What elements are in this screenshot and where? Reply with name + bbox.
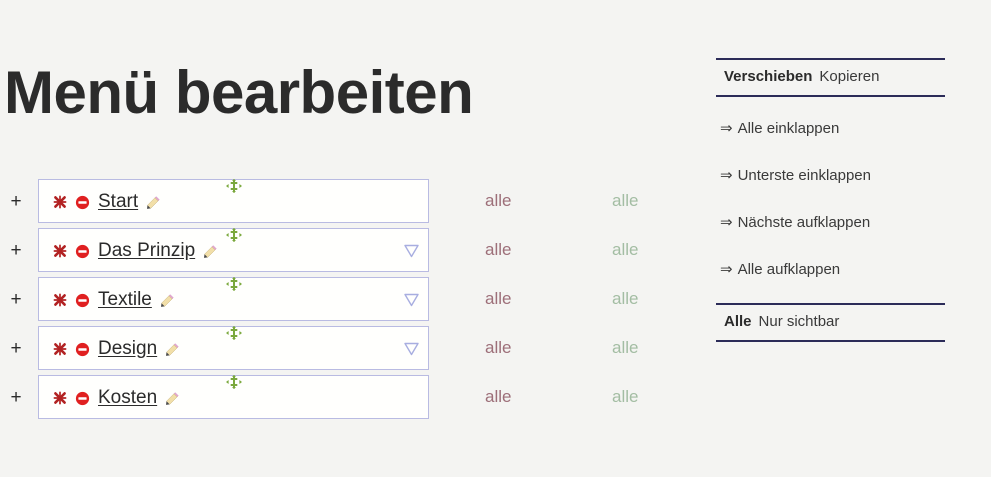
menu-item-box[interactable]: Das Prinzip <box>38 228 429 272</box>
add-child-button[interactable]: + <box>8 191 24 213</box>
disable-minus-icon[interactable] <box>75 391 90 406</box>
double-arrow-right-icon: ⇒ <box>720 167 733 184</box>
filter-group-inner: AlleNur sichtbar <box>716 312 945 332</box>
pencil-icon[interactable] <box>160 293 175 308</box>
panel-action-label: Unterste einklappen <box>738 167 871 184</box>
add-child-button[interactable]: + <box>8 387 24 409</box>
tab-kopieren[interactable]: Kopieren <box>819 68 879 85</box>
menu-row: +Designallealle <box>0 326 690 372</box>
pencil-icon[interactable] <box>203 244 218 259</box>
panel-action-label: Alle aufklappen <box>738 261 841 278</box>
add-child-button[interactable]: + <box>8 240 24 262</box>
menu-item-label[interactable]: Das Prinzip <box>98 240 195 262</box>
permission-visible[interactable]: alle <box>612 337 638 359</box>
panel-action-label: Alle einklappen <box>738 120 840 137</box>
page-title: Menü bearbeiten <box>4 57 473 129</box>
panel-action-link[interactable]: ⇒Unterste einklappen <box>716 166 945 186</box>
permission-visible[interactable]: alle <box>612 288 638 310</box>
permission-visible[interactable]: alle <box>612 239 638 261</box>
menu-row: +Textileallealle <box>0 277 690 323</box>
double-arrow-right-icon: ⇒ <box>720 120 733 137</box>
side-panel: VerschiebenKopieren ⇒Alle einklappen⇒Unt… <box>716 58 945 342</box>
menu-row: +Startallealle <box>0 179 690 225</box>
menu-item-box[interactable]: Textile <box>38 277 429 321</box>
move-cross-icon[interactable] <box>226 326 242 340</box>
add-child-button[interactable]: + <box>8 289 24 311</box>
delete-x-icon[interactable] <box>52 243 68 259</box>
menu-item-label[interactable]: Design <box>98 338 157 360</box>
tab-verschieben[interactable]: Verschieben <box>724 68 812 85</box>
menu-item-label[interactable]: Textile <box>98 289 152 311</box>
filter-alle[interactable]: Alle <box>724 313 752 330</box>
pencil-icon[interactable] <box>165 342 180 357</box>
mode-group: VerschiebenKopieren <box>716 58 945 97</box>
permission-all[interactable]: alle <box>485 386 511 408</box>
menu-item-content: Das Prinzip <box>52 229 218 273</box>
permission-all[interactable]: alle <box>485 239 511 261</box>
menu-item-box[interactable]: Kosten <box>38 375 429 419</box>
delete-x-icon[interactable] <box>52 292 68 308</box>
double-arrow-right-icon: ⇒ <box>720 261 733 278</box>
panel-action-link[interactable]: ⇒Alle aufklappen <box>716 260 945 280</box>
collapse-triangle-icon[interactable] <box>403 290 420 308</box>
panel-action-link[interactable]: ⇒Alle einklappen <box>716 119 945 139</box>
permission-all[interactable]: alle <box>485 288 511 310</box>
menu-item-content: Start <box>52 180 161 224</box>
menu-item-box[interactable]: Start <box>38 179 429 223</box>
filter-group: AlleNur sichtbar <box>716 303 945 342</box>
collapse-triangle-icon[interactable] <box>403 241 420 259</box>
add-child-button[interactable]: + <box>8 338 24 360</box>
panel-action-link[interactable]: ⇒Nächste aufklappen <box>716 213 945 233</box>
delete-x-icon[interactable] <box>52 390 68 406</box>
filter-nur-sichtbar[interactable]: Nur sichtbar <box>759 313 840 330</box>
panel-action-label: Nächste aufklappen <box>738 214 871 231</box>
menu-row: +Das Prinzipallealle <box>0 228 690 274</box>
permission-all[interactable]: alle <box>485 190 511 212</box>
disable-minus-icon[interactable] <box>75 244 90 259</box>
disable-minus-icon[interactable] <box>75 195 90 210</box>
move-cross-icon[interactable] <box>226 179 242 193</box>
pencil-icon[interactable] <box>146 195 161 210</box>
move-cross-icon[interactable] <box>226 277 242 291</box>
menu-item-content: Kosten <box>52 376 180 420</box>
menu-item-content: Textile <box>52 278 175 322</box>
delete-x-icon[interactable] <box>52 341 68 357</box>
menu-item-box[interactable]: Design <box>38 326 429 370</box>
mode-group-inner: VerschiebenKopieren <box>716 67 945 87</box>
move-cross-icon[interactable] <box>226 375 242 389</box>
double-arrow-right-icon: ⇒ <box>720 214 733 231</box>
pencil-icon[interactable] <box>165 391 180 406</box>
permission-visible[interactable]: alle <box>612 386 638 408</box>
menu-tree: +Startallealle+Das Prinzipallealle+Texti… <box>0 179 690 424</box>
move-cross-icon[interactable] <box>226 228 242 242</box>
disable-minus-icon[interactable] <box>75 293 90 308</box>
permission-all[interactable]: alle <box>485 337 511 359</box>
menu-item-label[interactable]: Start <box>98 191 138 213</box>
menu-row: +Kostenallealle <box>0 375 690 421</box>
menu-item-content: Design <box>52 327 180 371</box>
disable-minus-icon[interactable] <box>75 342 90 357</box>
delete-x-icon[interactable] <box>52 194 68 210</box>
panel-actions: ⇒Alle einklappen⇒Unterste einklappen⇒Näc… <box>716 119 945 280</box>
permission-visible[interactable]: alle <box>612 190 638 212</box>
collapse-triangle-icon[interactable] <box>403 339 420 357</box>
menu-item-label[interactable]: Kosten <box>98 387 157 409</box>
